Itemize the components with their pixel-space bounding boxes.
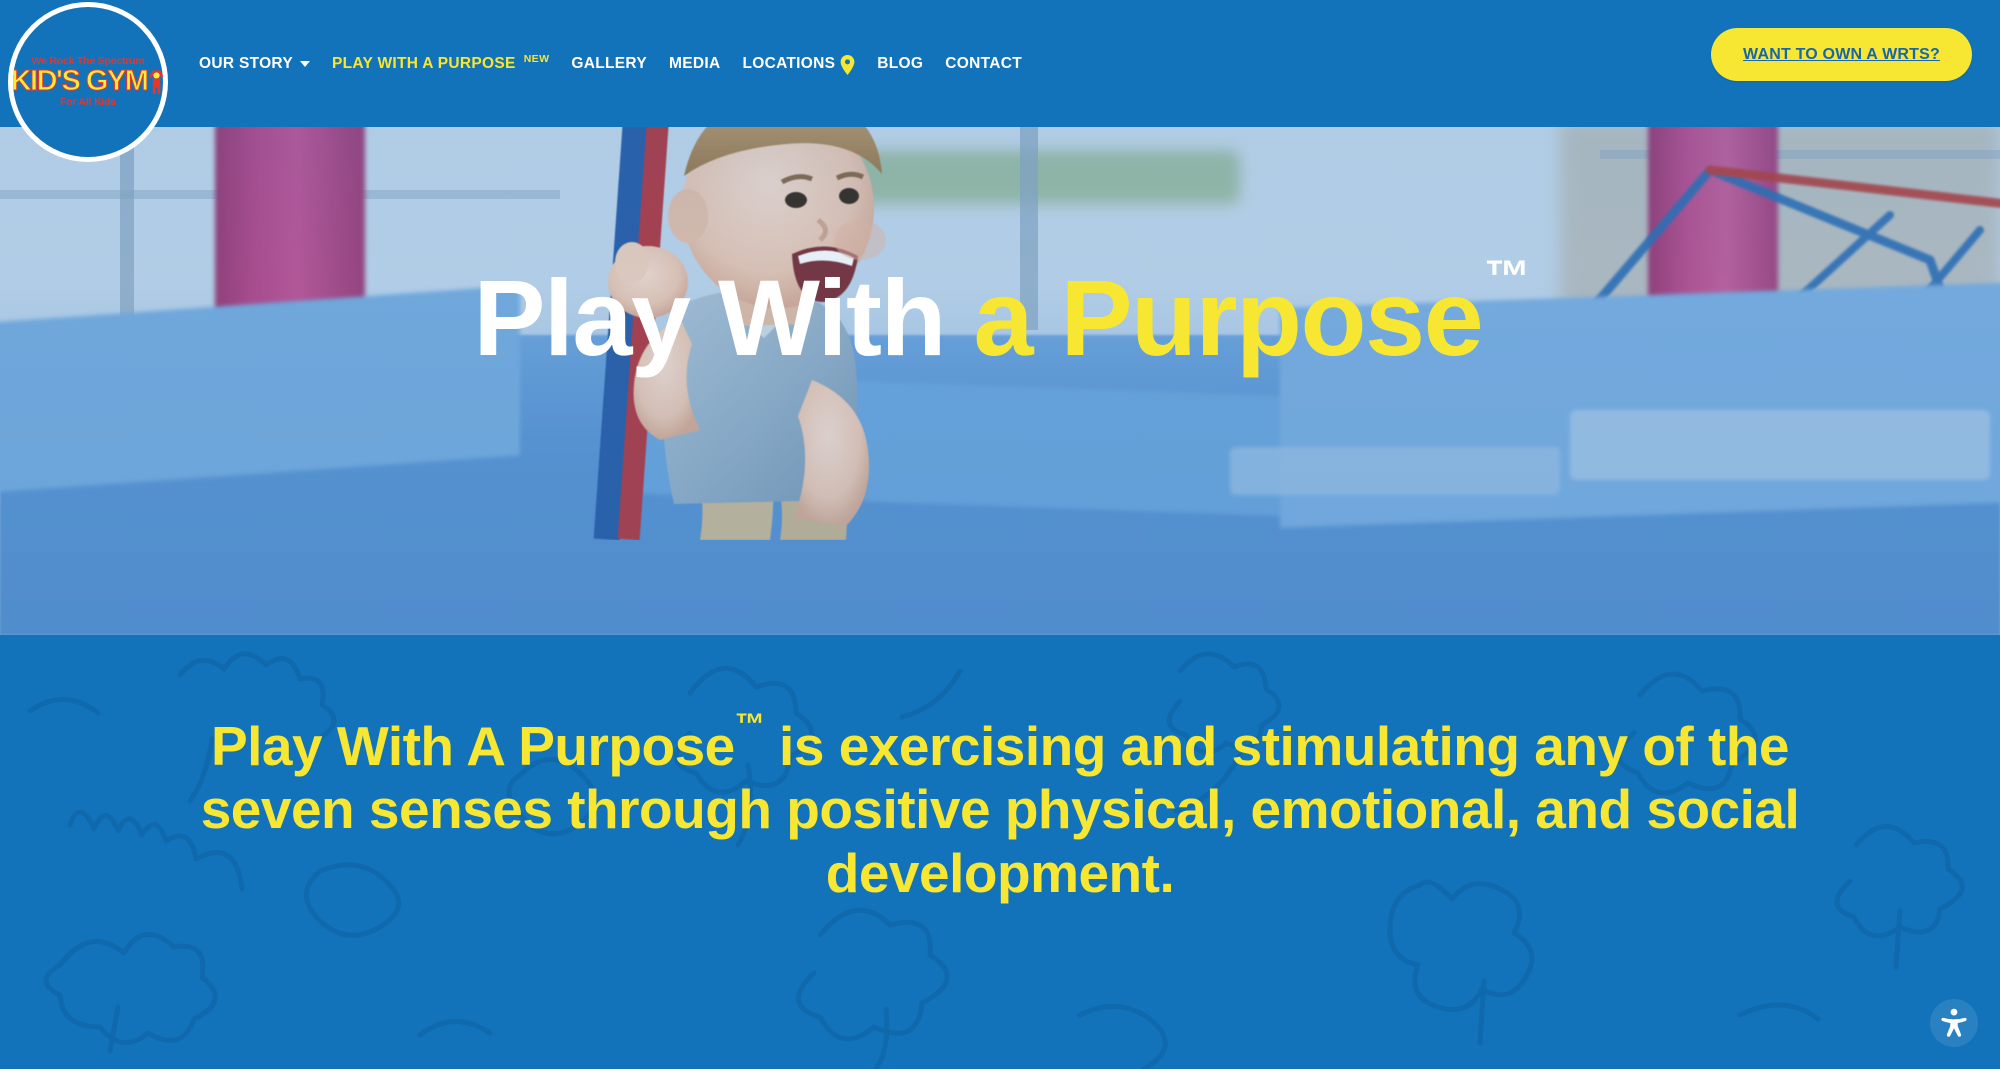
nav-label: BLOG [877,55,923,73]
statement-paragraph: Play With A Purpose™ is exercising and s… [150,715,1850,905]
nav-label: CONTACT [945,55,1022,73]
accessibility-button[interactable] [1930,999,1978,1047]
nav-item-contact[interactable]: CONTACT [934,55,1033,73]
nav-item-blog[interactable]: BLOG [866,55,934,73]
statement-trademark: ™ [735,708,765,741]
cta-label: WANT TO OWN A WRTS? [1743,46,1940,64]
bottom-white-strip [0,1069,2000,1088]
nav-item-our-story[interactable]: OUR STORY [188,55,321,73]
map-pin-icon [840,55,855,75]
nav-label: GALLERY [571,55,647,73]
accessibility-icon [1939,1007,1969,1040]
nav-item-locations[interactable]: LOCATIONS [731,54,866,74]
logo-main-text: KID'S GYM [11,67,148,96]
logo-tagline-bottom: For All Kids [60,98,116,108]
statement-part-1: Play With A Purpose [211,715,735,777]
own-a-wrts-button[interactable]: WANT TO OWN A WRTS? [1711,28,1972,81]
logo-main-row: KID'S GYM [11,67,166,96]
chevron-down-icon [300,61,310,67]
nav-label: MEDIA [669,55,720,73]
nav-item-gallery[interactable]: GALLERY [560,55,658,73]
new-badge: NEW [524,53,550,65]
main-navigation: OUR STORY PLAY WITH A PURPOSE NEW GALLER… [188,0,1033,127]
play-with-purpose-statement-section: Play With A Purpose™ is exercising and s… [0,635,2000,1069]
site-header: OUR STORY PLAY WITH A PURPOSE NEW GALLER… [0,0,2000,127]
statement-text-wrap: Play With A Purpose™ is exercising and s… [0,635,2000,1069]
nav-label: PLAY WITH A PURPOSE [332,55,516,73]
nav-item-media[interactable]: MEDIA [658,55,731,73]
kid-figure-icon [148,69,165,95]
nav-label: OUR STORY [199,55,293,73]
nav-item-play-with-a-purpose[interactable]: PLAY WITH A PURPOSE NEW [321,55,560,73]
site-logo[interactable]: We Rock The Spectrum KID'S GYM For All K… [8,2,168,162]
page-root: Play With a Purpose™ OUR STORY PLAY WITH… [0,0,2000,1088]
nav-label: LOCATIONS [742,55,835,73]
